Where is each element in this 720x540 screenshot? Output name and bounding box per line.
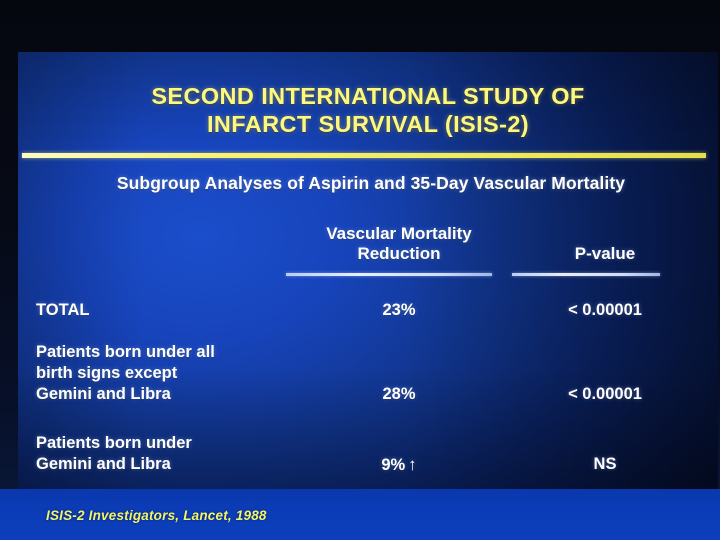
table-row-effect-value-gemini-libra: 9%	[381, 456, 405, 474]
presentation-slide: SECOND INTERNATIONAL STUDY OF INFARCT SU…	[18, 52, 718, 489]
results-table: Vascular Mortality Reduction P-value TOT…	[18, 52, 718, 489]
column-header-effect-line-1: Vascular Mortality	[288, 224, 510, 244]
table-row-effect-other-signs: 28%	[288, 384, 510, 405]
table-row-pvalue-gemini-libra: NS	[512, 454, 698, 475]
source-citation: ISIS-2 Investigators, Lancet, 1988	[46, 508, 267, 523]
table-row-label-total: TOTAL	[36, 300, 286, 321]
column-header-vascular-mortality-reduction: Vascular Mortality Reduction	[288, 224, 510, 264]
column-header-rule-effect	[286, 273, 492, 276]
column-header-effect-line-2: Reduction	[288, 244, 510, 264]
column-header-p-value: P-value	[512, 244, 698, 264]
table-row-effect-total: 23%	[288, 300, 510, 321]
projected-slide-photo: SECOND INTERNATIONAL STUDY OF INFARCT SU…	[0, 0, 720, 540]
arrow-up-icon: ↑	[405, 455, 417, 474]
slide-content: SECOND INTERNATIONAL STUDY OF INFARCT SU…	[18, 52, 718, 489]
table-row-pvalue-total: < 0.00001	[512, 300, 698, 321]
table-row-label-gemini-libra: Patients born under Gemini and Libra	[36, 433, 286, 475]
column-header-rule-p-value	[512, 273, 660, 276]
table-row-effect-gemini-libra: 9%↑	[288, 454, 510, 476]
table-row-pvalue-other-signs: < 0.00001	[512, 384, 698, 405]
table-row-label-other-signs: Patients born under all birth signs exce…	[36, 342, 286, 405]
